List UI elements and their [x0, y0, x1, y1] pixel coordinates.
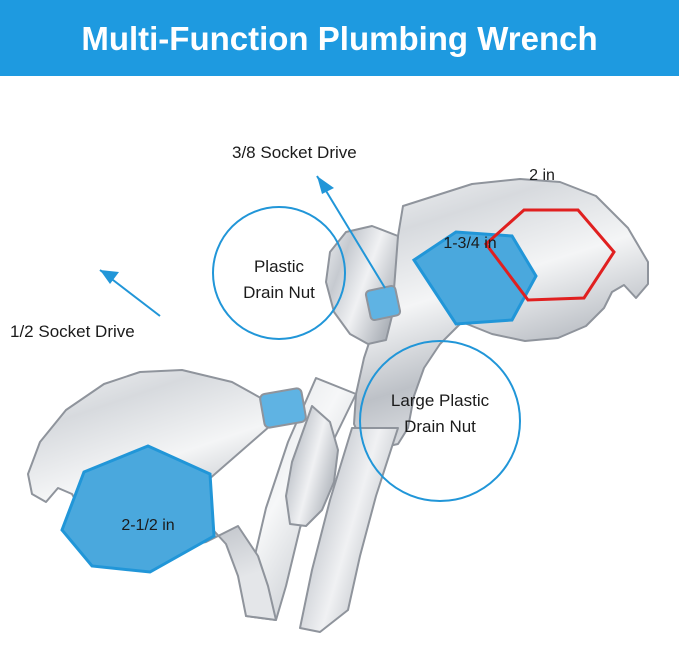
- hex-label-2in: 2 in: [482, 166, 602, 186]
- annotation-socket-drive-3-8: 3/8 Socket Drive: [232, 142, 357, 164]
- hex-label-2-1-2in: 2-1/2 in: [78, 516, 218, 536]
- header-banner: Multi-Function Plumbing Wrench: [0, 0, 679, 76]
- hex-label-1-3-4in: 1-3/4 in: [400, 234, 540, 254]
- wrench-illustration: 3/8 Socket Drive Plastic Drain Nut 1/2 S…: [0, 76, 679, 647]
- annotation-plastic-drain-nut-line1: Plastic: [213, 256, 345, 278]
- annotation-plastic-drain-nut-line2: Drain Nut: [213, 282, 345, 304]
- socket-drive-1-2-hole: [259, 388, 306, 429]
- product-infographic: Multi-Function Plumbing Wrench: [0, 0, 679, 647]
- annotation-socket-drive-1-2: 1/2 Socket Drive: [10, 321, 135, 343]
- socket-drive-3-8-hole: [365, 285, 401, 321]
- arrowhead-3-8: [317, 176, 334, 194]
- annotation-large-plastic-drain-nut-line2: Drain Nut: [362, 416, 518, 438]
- annotation-large-plastic-drain-nut-line1: Large Plastic: [362, 390, 518, 412]
- page-title: Multi-Function Plumbing Wrench: [81, 22, 597, 55]
